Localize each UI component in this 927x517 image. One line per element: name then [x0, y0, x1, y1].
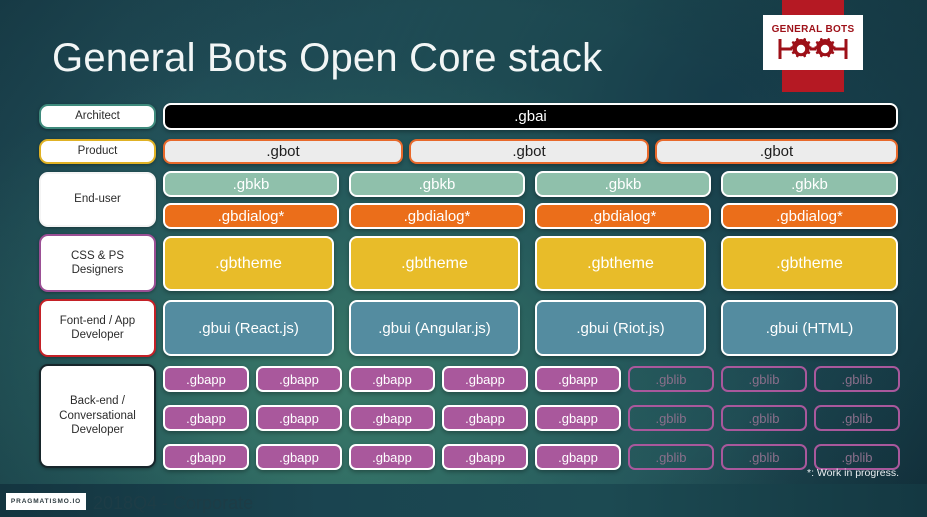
cell-gblib-r1c1[interactable]: .gblib	[628, 366, 714, 392]
cell-gbtheme-1[interactable]: .gbtheme	[163, 236, 334, 291]
cell-gblib-r3c2[interactable]: .gblib	[721, 444, 807, 470]
row-label-text-line2: Developer	[71, 328, 123, 342]
cell-label: .gbui (HTML)	[766, 320, 854, 337]
cell-gbapp-r2c2[interactable]: .gbapp	[256, 405, 342, 431]
cell-label: .gblib	[655, 372, 686, 387]
cell-label: .gblib	[841, 450, 872, 465]
slide-canvas: General Bots Open Core stack GENERAL BOT…	[0, 0, 927, 517]
row-label-text-line1: Back-end /	[70, 394, 125, 408]
cell-label: .gblib	[748, 411, 779, 426]
cell-gblib-r2c1[interactable]: .gblib	[628, 405, 714, 431]
cell-gbapp-r3c2[interactable]: .gbapp	[256, 444, 342, 470]
cell-gbapp-r3c4[interactable]: .gbapp	[442, 444, 528, 470]
cell-gbdialog-4[interactable]: .gbdialog*	[721, 203, 898, 229]
cell-label: .gbtheme	[776, 255, 843, 273]
cell-label: .gblib	[655, 450, 686, 465]
cell-label: .gbdialog*	[218, 208, 285, 225]
cell-gbapp-r2c4[interactable]: .gbapp	[442, 405, 528, 431]
row-label-text: Architect	[75, 109, 120, 123]
cell-label: .gbdialog*	[590, 208, 657, 225]
cell-gbapp-r1c5[interactable]: .gbapp	[535, 366, 621, 392]
cell-label: .gbapp	[465, 450, 505, 465]
cell-label: .gblib	[748, 372, 779, 387]
cell-label: .gbdialog*	[404, 208, 471, 225]
cell-label: .gbapp	[279, 411, 319, 426]
cell-label: .gbui (React.js)	[198, 320, 299, 337]
cell-gbapp-r2c1[interactable]: .gbapp	[163, 405, 249, 431]
pragmatismo-logo: PRAGMATISMO.IO	[6, 493, 86, 510]
row-label-back-end-conversational-developer[interactable]: Back-end / Conversational Developer	[39, 364, 156, 468]
row-label-architect[interactable]: Architect	[39, 104, 156, 129]
cell-label: .gbot	[512, 143, 545, 160]
row-label-end-user[interactable]: End-user	[39, 172, 156, 227]
cell-gbtheme-3[interactable]: .gbtheme	[535, 236, 706, 291]
cell-gbdialog-3[interactable]: .gbdialog*	[535, 203, 711, 229]
row-label-text-line1: Font-end / App	[60, 314, 135, 328]
cell-gbkb-2[interactable]: .gbkb	[349, 171, 525, 197]
cell-label: .gbapp	[279, 450, 319, 465]
cell-label: .gbapp	[372, 372, 412, 387]
row-label-text-line1: CSS & PS	[71, 249, 124, 263]
cell-label: .gbapp	[558, 411, 598, 426]
cell-label: .gbui (Riot.js)	[576, 320, 664, 337]
cell-label: .gbapp	[558, 372, 598, 387]
cell-gbdialog-2[interactable]: .gbdialog*	[349, 203, 525, 229]
cell-label: .gbai	[514, 108, 547, 125]
footer-caption: 2018Q4 - Corporate	[93, 493, 253, 514]
cell-label: .gbtheme	[587, 255, 654, 273]
cell-gbapp-r1c3[interactable]: .gbapp	[349, 366, 435, 392]
cell-label: .gbapp	[186, 372, 226, 387]
cell-label: .gbot	[266, 143, 299, 160]
cell-gbapp-r1c2[interactable]: .gbapp	[256, 366, 342, 392]
cell-label: .gbkb	[233, 176, 270, 193]
cell-label: .gblib	[841, 372, 872, 387]
cell-label: .gblib	[655, 411, 686, 426]
cell-label: .gbdialog*	[776, 208, 843, 225]
cell-label: .gbapp	[186, 450, 226, 465]
row-label-text-line2: Conversational	[59, 409, 136, 423]
cell-gbai[interactable]: .gbai	[163, 103, 898, 130]
cell-gblib-r3c1[interactable]: .gblib	[628, 444, 714, 470]
row-label-product[interactable]: Product	[39, 139, 156, 164]
pragmatismo-logo-text: PRAGMATISMO.IO	[11, 498, 81, 505]
cell-gbui-html[interactable]: .gbui (HTML)	[721, 300, 898, 356]
cell-label: .gbkb	[791, 176, 828, 193]
cell-label: .gbui (Angular.js)	[378, 320, 491, 337]
cell-gbot-2[interactable]: .gbot	[409, 139, 649, 164]
cell-gbapp-r2c5[interactable]: .gbapp	[535, 405, 621, 431]
cell-label: .gbot	[760, 143, 793, 160]
row-label-text-line3: Developer	[71, 423, 123, 437]
cell-label: .gbapp	[372, 411, 412, 426]
cell-gbapp-r2c3[interactable]: .gbapp	[349, 405, 435, 431]
cell-label: .gbapp	[558, 450, 598, 465]
row-label-text: Product	[78, 144, 118, 158]
cell-gbkb-3[interactable]: .gbkb	[535, 171, 711, 197]
cell-gblib-r1c3[interactable]: .gblib	[814, 366, 900, 392]
work-in-progress-note: *: Work in progress.	[807, 467, 899, 479]
row-label-css-ps-designers[interactable]: CSS & PS Designers	[39, 234, 156, 292]
cell-label: .gbapp	[279, 372, 319, 387]
footer-bar: PRAGMATISMO.IO 2018Q4 - Corporate	[0, 484, 927, 517]
cell-gbot-3[interactable]: .gbot	[655, 139, 898, 164]
cell-label: .gblib	[748, 450, 779, 465]
cell-label: .gbtheme	[215, 255, 282, 273]
cell-label: .gbkb	[419, 176, 456, 193]
cell-gbui-react[interactable]: .gbui (React.js)	[163, 300, 334, 356]
cell-gbui-angular[interactable]: .gbui (Angular.js)	[349, 300, 520, 356]
cell-gbtheme-4[interactable]: .gbtheme	[721, 236, 898, 291]
stack-diagram: Architect Product End-user CSS & PS Desi…	[0, 0, 927, 517]
cell-label: .gbapp	[372, 450, 412, 465]
cell-gbapp-r3c1[interactable]: .gbapp	[163, 444, 249, 470]
cell-gbot-1[interactable]: .gbot	[163, 139, 403, 164]
cell-label: .gblib	[841, 411, 872, 426]
cell-gbdialog-1[interactable]: .gbdialog*	[163, 203, 339, 229]
cell-gbapp-r3c3[interactable]: .gbapp	[349, 444, 435, 470]
cell-gblib-r1c2[interactable]: .gblib	[721, 366, 807, 392]
cell-gbtheme-2[interactable]: .gbtheme	[349, 236, 520, 291]
cell-gbkb-1[interactable]: .gbkb	[163, 171, 339, 197]
row-label-front-end-app-developer[interactable]: Font-end / App Developer	[39, 299, 156, 357]
cell-gblib-r2c2[interactable]: .gblib	[721, 405, 807, 431]
row-label-text-line2: Designers	[72, 263, 124, 277]
cell-gbkb-4[interactable]: .gbkb	[721, 171, 898, 197]
cell-gbapp-r1c4[interactable]: .gbapp	[442, 366, 528, 392]
cell-gbui-riot[interactable]: .gbui (Riot.js)	[535, 300, 706, 356]
cell-gblib-r2c3[interactable]: .gblib	[814, 405, 900, 431]
cell-label: .gbapp	[186, 411, 226, 426]
cell-gbapp-r1c1[interactable]: .gbapp	[163, 366, 249, 392]
cell-label: .gbtheme	[401, 255, 468, 273]
cell-label: .gbkb	[605, 176, 642, 193]
cell-label: .gbapp	[465, 411, 505, 426]
cell-gbapp-r3c5[interactable]: .gbapp	[535, 444, 621, 470]
row-label-text: End-user	[74, 192, 121, 206]
cell-label: .gbapp	[465, 372, 505, 387]
